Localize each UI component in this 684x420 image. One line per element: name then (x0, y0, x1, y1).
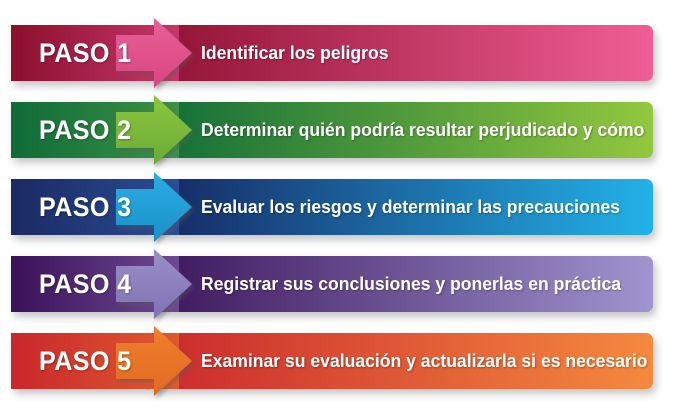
step-number-label: PASO 3 (39, 179, 131, 235)
step-description: Registrar sus conclusiones y ponerlas en… (201, 256, 621, 312)
step-row-3: PASO 3Evaluar los riesgos y determinar l… (11, 179, 653, 235)
step-row-1: PASO 1Identificar los peligros (11, 25, 653, 81)
step-row-2: PASO 2Determinar quién podría resultar p… (11, 102, 653, 158)
step-number-label: PASO 4 (39, 256, 131, 312)
step-number-label: PASO 2 (39, 102, 131, 158)
step-description: Identificar los peligros (201, 25, 389, 81)
steps-infographic: PASO 1Identificar los peligrosPASO 2Dete… (0, 0, 684, 420)
step-description: Examinar su evaluación y actualizarla si… (201, 333, 647, 389)
step-row-5: PASO 5Examinar su evaluación y actualiza… (11, 333, 653, 389)
step-row-4: PASO 4Registrar sus conclusiones y poner… (11, 256, 653, 312)
step-description: Evaluar los riesgos y determinar las pre… (201, 179, 620, 235)
step-number-label: PASO 5 (39, 333, 131, 389)
step-description: Determinar quién podría resultar perjudi… (201, 102, 644, 158)
step-number-label: PASO 1 (39, 25, 131, 81)
